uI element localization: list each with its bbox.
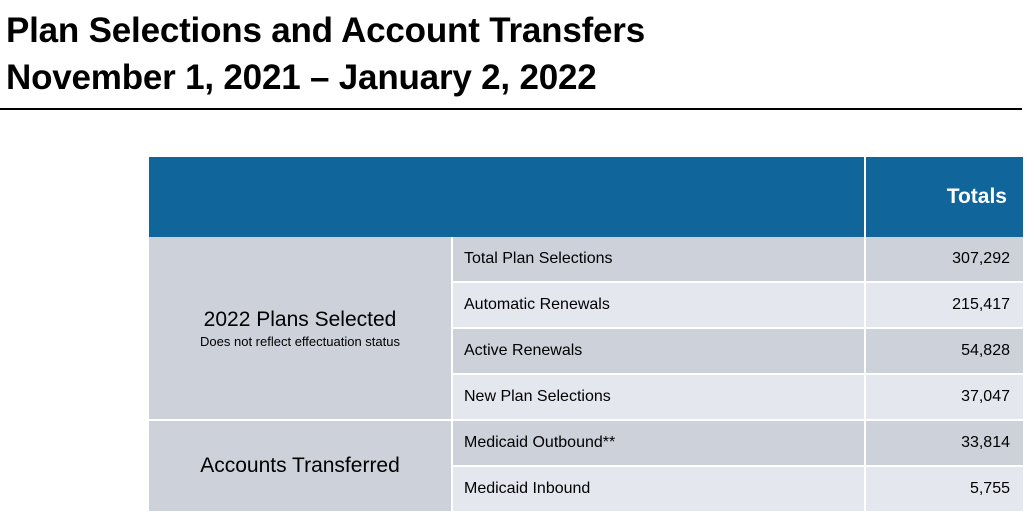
page-title-line-2: November 1, 2021 – January 2, 2022 — [6, 55, 1022, 102]
row-label: New Plan Selections — [452, 374, 865, 420]
page-title: Plan Selections and Account Transfers No… — [0, 0, 1028, 102]
summary-table-container: Totals 2022 Plans Selected Does not refl… — [149, 157, 1023, 513]
group-cell-plans-selected: 2022 Plans Selected Does not reflect eff… — [149, 237, 452, 420]
summary-table: Totals 2022 Plans Selected Does not refl… — [149, 157, 1023, 513]
group-title: Accounts Transferred — [159, 453, 441, 478]
row-value: 37,047 — [865, 374, 1023, 420]
table-row: Accounts Transferred Medicaid Outbound**… — [149, 420, 1023, 466]
row-value: 5,755 — [865, 466, 1023, 512]
page-title-line-1: Plan Selections and Account Transfers — [6, 8, 1022, 55]
group-title: 2022 Plans Selected — [159, 307, 441, 332]
table-row: 2022 Plans Selected Does not reflect eff… — [149, 237, 1023, 282]
row-label: Medicaid Outbound** — [452, 420, 865, 466]
row-label: Active Renewals — [452, 328, 865, 374]
header-blank-cell — [149, 157, 865, 237]
row-label: Medicaid Inbound — [452, 466, 865, 512]
row-value: 54,828 — [865, 328, 1023, 374]
row-label: Automatic Renewals — [452, 282, 865, 328]
row-value: 307,292 — [865, 237, 1023, 282]
row-value: 33,814 — [865, 420, 1023, 466]
header-totals-cell: Totals — [865, 157, 1023, 237]
title-divider — [0, 108, 1022, 110]
row-value: 215,417 — [865, 282, 1023, 328]
group-cell-accounts-transferred: Accounts Transferred — [149, 420, 452, 512]
table-header-row: Totals — [149, 157, 1023, 237]
row-label: Total Plan Selections — [452, 237, 865, 282]
group-subtitle: Does not reflect effectuation status — [159, 334, 441, 349]
